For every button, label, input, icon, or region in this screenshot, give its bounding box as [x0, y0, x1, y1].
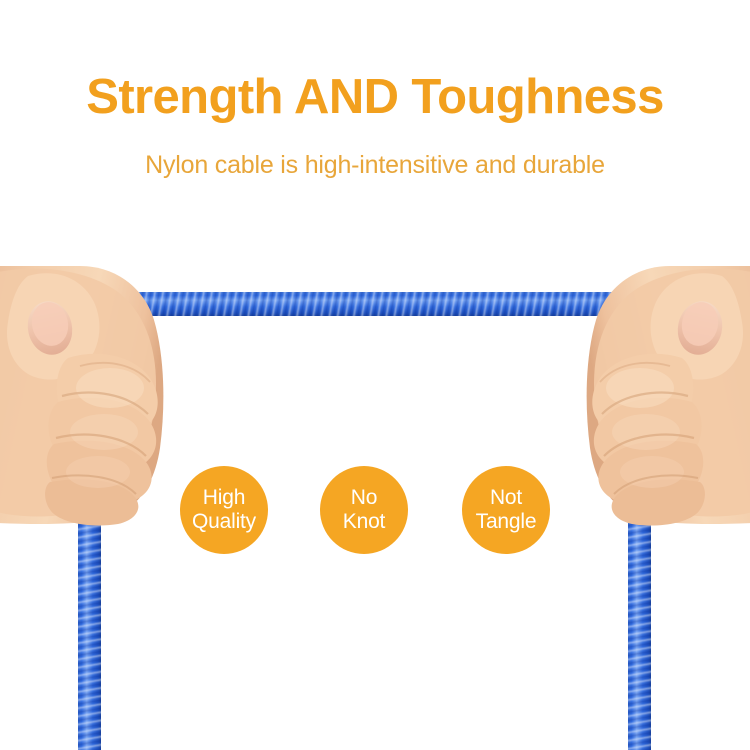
- feature-badge-group: High Quality No Knot Not Tangle: [0, 466, 750, 558]
- badge-label-line2: Knot: [343, 510, 385, 534]
- feature-badge-high-quality: High Quality: [180, 466, 268, 554]
- feature-badge-no-knot: No Knot: [320, 466, 408, 554]
- page-title: Strength AND Toughness: [0, 72, 750, 124]
- badge-label-line1: Not: [490, 486, 522, 510]
- badge-label-line2: Tangle: [476, 510, 537, 534]
- product-feature-banner: Strength AND Toughness Nylon cable is hi…: [0, 0, 750, 750]
- badge-label-line1: No: [351, 486, 377, 510]
- badge-label-line2: Quality: [192, 510, 256, 534]
- badge-label-line1: High: [203, 486, 245, 510]
- feature-badge-not-tangle: Not Tangle: [462, 466, 550, 554]
- page-subtitle: Nylon cable is high-intensitive and dura…: [0, 150, 750, 180]
